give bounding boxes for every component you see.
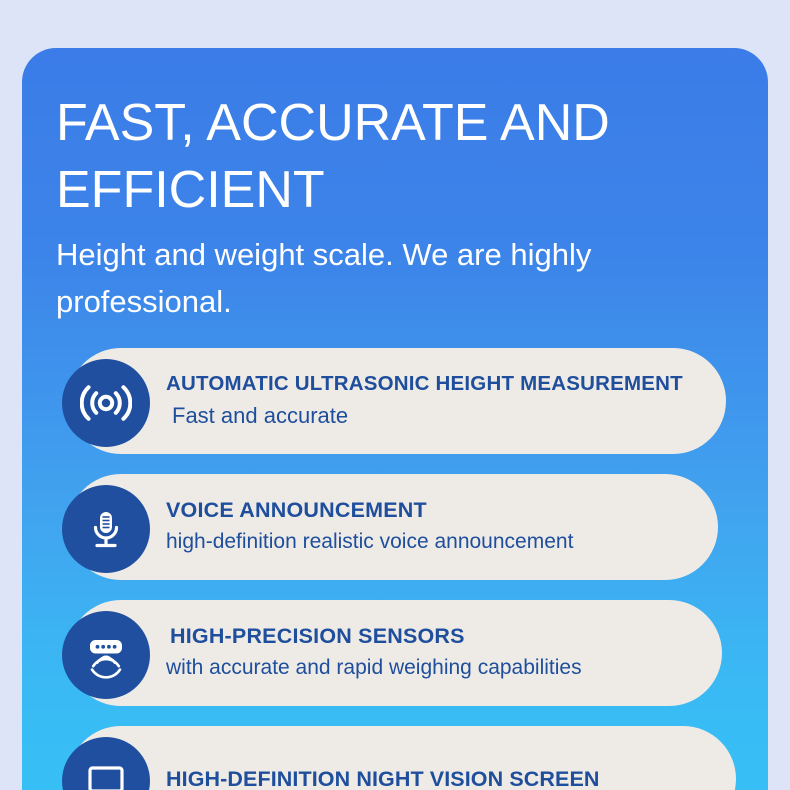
- monitor-screen-icon: [62, 737, 150, 790]
- list-item[interactable]: HIGH-DEFINITION NIGHT VISION SCREEN: [22, 726, 768, 790]
- feature-text-3: HIGH-PRECISION SENSORS with accurate and…: [166, 600, 582, 706]
- feature-title: AUTOMATIC ULTRASONIC HEIGHT MEASUREMENT: [166, 371, 683, 397]
- microphone-icon: [62, 485, 150, 573]
- weight-sensor-icon: [62, 611, 150, 699]
- broadcast-signal-icon: [62, 359, 150, 447]
- feature-list: AUTOMATIC ULTRASONIC HEIGHT MEASUREMENT …: [22, 348, 768, 790]
- feature-text-2: VOICE ANNOUNCEMENT high-definition reali…: [166, 474, 573, 580]
- list-item[interactable]: HIGH-PRECISION SENSORS with accurate and…: [22, 600, 768, 706]
- feature-pill-3[interactable]: HIGH-PRECISION SENSORS with accurate and…: [68, 600, 722, 706]
- promo-card: Fast, Accurate and Efficient Height and …: [22, 48, 768, 790]
- feature-pill-1[interactable]: AUTOMATIC ULTRASONIC HEIGHT MEASUREMENT …: [68, 348, 726, 454]
- feature-desc: high-definition realistic voice announce…: [166, 528, 573, 556]
- feature-title: HIGH-DEFINITION NIGHT VISION SCREEN: [166, 766, 600, 790]
- list-item[interactable]: AUTOMATIC ULTRASONIC HEIGHT MEASUREMENT …: [22, 348, 768, 454]
- feature-text-1: AUTOMATIC ULTRASONIC HEIGHT MEASUREMENT …: [166, 348, 683, 454]
- feature-pill-4[interactable]: HIGH-DEFINITION NIGHT VISION SCREEN: [68, 726, 736, 790]
- feature-title: VOICE ANNOUNCEMENT: [166, 497, 573, 524]
- feature-desc: with accurate and rapid weighing capabil…: [166, 654, 582, 682]
- feature-text-4: HIGH-DEFINITION NIGHT VISION SCREEN: [166, 726, 600, 790]
- page-subtitle: Height and weight scale. We are highly p…: [56, 232, 686, 325]
- feature-pill-2[interactable]: VOICE ANNOUNCEMENT high-definition reali…: [68, 474, 718, 580]
- list-item[interactable]: VOICE ANNOUNCEMENT high-definition reali…: [22, 474, 768, 580]
- feature-desc: Fast and accurate: [172, 401, 683, 431]
- feature-title: HIGH-PRECISION SENSORS: [170, 623, 582, 650]
- promo-page: Fast, Accurate and Efficient Height and …: [0, 0, 790, 790]
- promo-card-inner: Fast, Accurate and Efficient Height and …: [22, 48, 768, 790]
- page-title: Fast, Accurate and Efficient: [56, 90, 696, 223]
